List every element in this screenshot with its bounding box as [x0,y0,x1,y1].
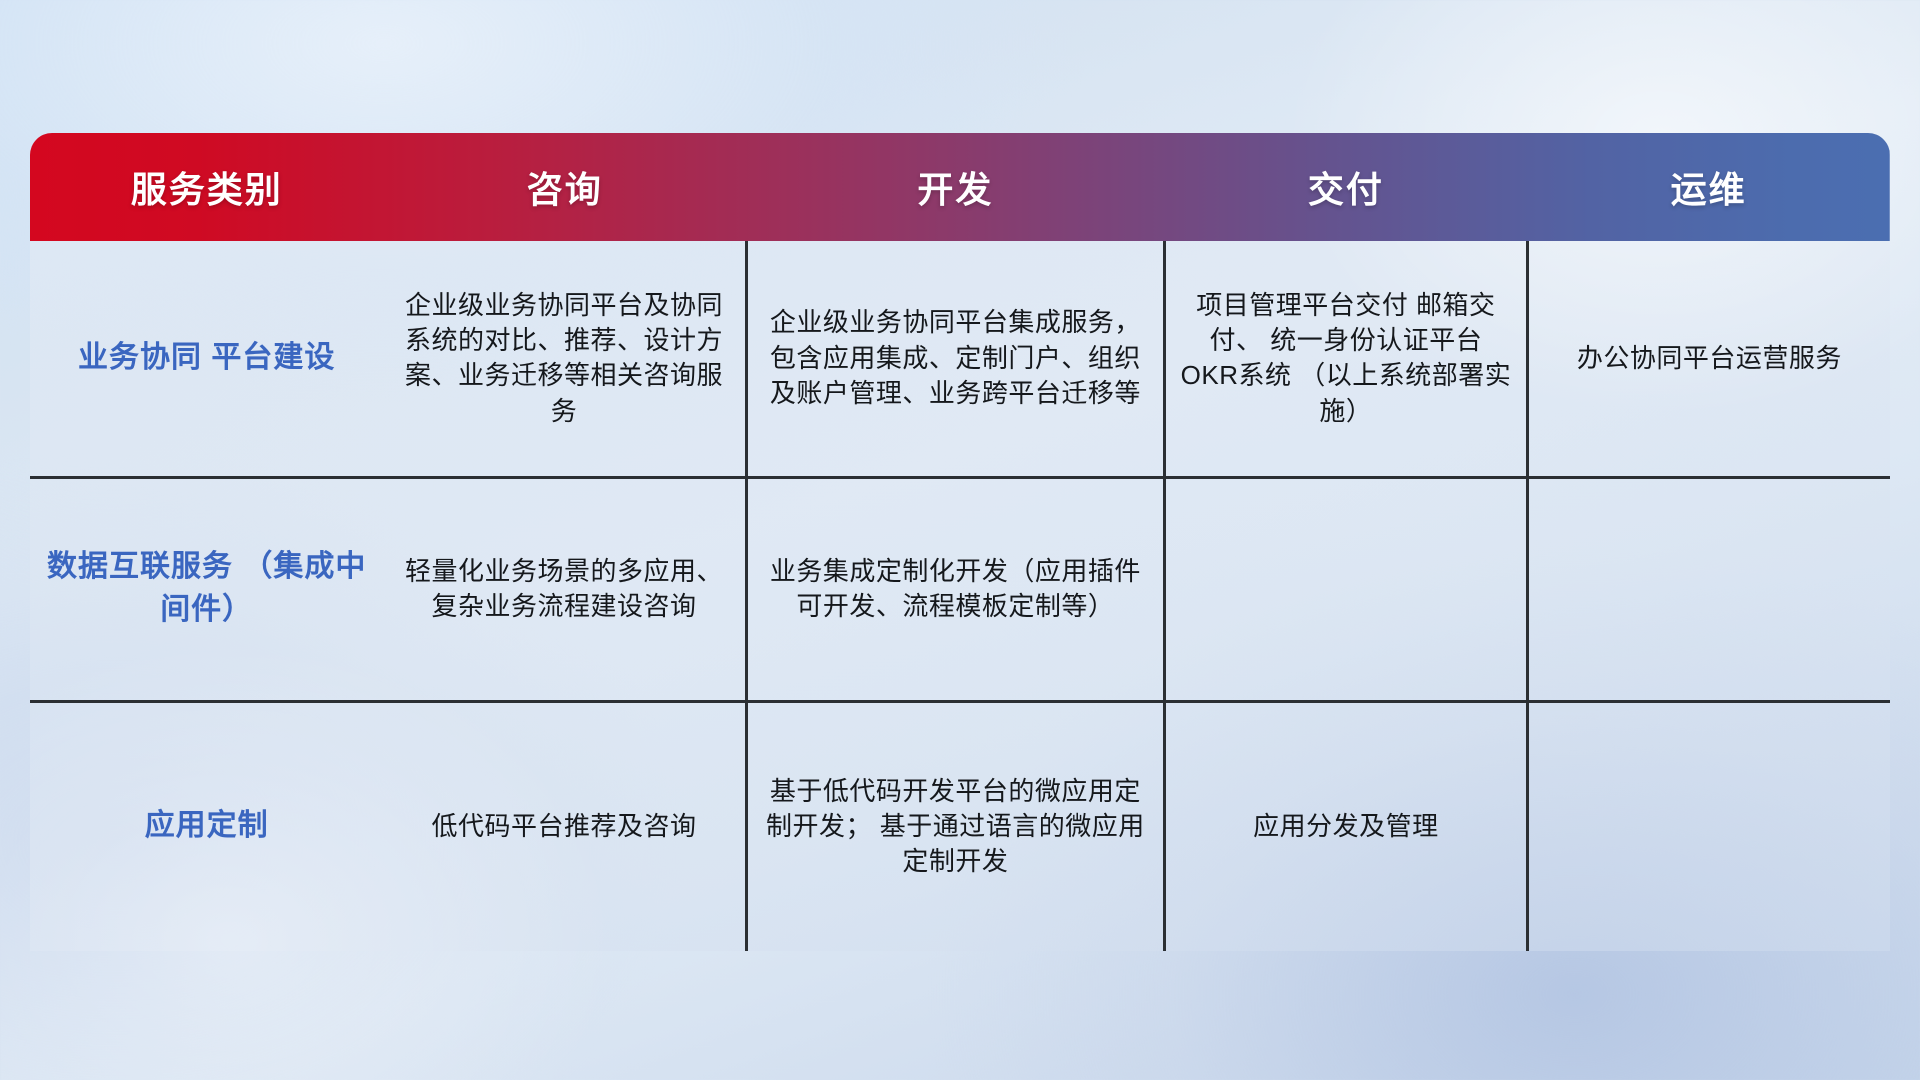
delivery-line-4: OKR系统 [1181,360,1292,390]
row-category-label: 业务协同 平台建设 [30,241,383,477]
table-header-row: 服务类别 咨询 开发 交付 运维 [30,133,1890,241]
cell-consulting: 企业级业务协同平台及协同系统的对比、推荐、设计方案、业务迁移等相关咨询服务 [383,241,746,477]
delivery-line-1: 项目管理平台交付 [1196,290,1408,320]
development-line-1: 基于低代码开发平台的微应用定 [770,776,1141,806]
cell-development: 基于低代码开发平台的微应用定 制开发； 基于通过语言的微应用定制开发 [746,701,1165,951]
cell-operations [1527,701,1890,951]
row-category-line-1: 业务协同 [78,341,202,374]
development-line-2: 制开发； [766,811,872,841]
cell-delivery: 项目管理平台交付 邮箱交付、 统一身份认证平台 OKR系统 （以上系统部署实施） [1165,241,1528,477]
delivery-line-5: （以上系统部署实施） [1299,360,1511,425]
table-row: 应用定制 低代码平台推荐及咨询 基于低代码开发平台的微应用定 制开发； 基于通过… [30,701,1890,951]
service-matrix-table: 服务类别 咨询 开发 交付 运维 业务协同 平台建设 企业级业务协同平台及协同系… [30,133,1890,951]
row-category-line-1: 数据互联服务 [47,550,233,583]
cell-consulting: 轻量化业务场景的多应用、复杂业务流程建设咨询 [383,477,746,701]
cell-consulting: 低代码平台推荐及咨询 [383,701,746,951]
row-category-line-1: 应用定制 [145,809,269,842]
row-category-line-2: 平台建设 [211,341,335,374]
column-header-consulting: 咨询 [383,133,746,241]
slide-canvas: 服务类别 咨询 开发 交付 运维 业务协同 平台建设 企业级业务协同平台及协同系… [0,0,1920,1080]
row-category-label: 应用定制 [30,701,383,951]
cell-operations [1527,477,1890,701]
service-matrix-table-container: 服务类别 咨询 开发 交付 运维 业务协同 平台建设 企业级业务协同平台及协同系… [30,133,1890,951]
cell-development: 业务集成定制化开发（应用插件可开发、流程模板定制等） [746,477,1165,701]
delivery-line-3: 统一身份认证平台 [1270,325,1482,355]
table-body: 业务协同 平台建设 企业级业务协同平台及协同系统的对比、推荐、设计方案、业务迁移… [30,241,1890,951]
column-header-operations: 运维 [1527,133,1890,241]
cell-operations: 办公协同平台运营服务 [1527,241,1890,477]
column-header-service-category: 服务类别 [30,133,383,241]
cell-delivery [1165,477,1528,701]
table-row: 业务协同 平台建设 企业级业务协同平台及协同系统的对比、推荐、设计方案、业务迁移… [30,241,1890,477]
table-row: 数据互联服务 （集成中间件） 轻量化业务场景的多应用、复杂业务流程建设咨询 业务… [30,477,1890,701]
development-line-3: 基于通过语言的微应用定制开发 [880,811,1145,876]
cell-development: 企业级业务协同平台集成服务，包含应用集成、定制门户、组织及账户管理、业务跨平台迁… [746,241,1165,477]
row-category-label: 数据互联服务 （集成中间件） [30,477,383,701]
cell-delivery: 应用分发及管理 [1165,701,1528,951]
column-header-development: 开发 [746,133,1165,241]
table-header: 服务类别 咨询 开发 交付 运维 [30,133,1890,241]
column-header-delivery: 交付 [1165,133,1528,241]
